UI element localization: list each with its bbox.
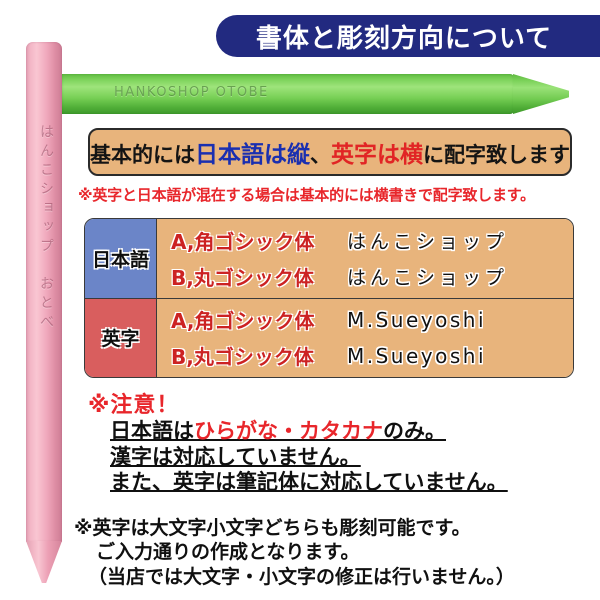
layout-rule-text: 基本的には日本語は縦、英字は横に配字致します xyxy=(90,135,570,169)
pink-pencil: はんこショップ おとべ xyxy=(26,42,62,582)
font-sample-text: はんこショップ xyxy=(347,227,508,254)
font-spec-table: 日本語 A,角ゴシック体 はんこショップ B,丸ゴシック体 はんこショップ 英字… xyxy=(84,218,574,378)
font-variant-row: B,丸ゴシック体 M.Sueyoshi xyxy=(171,338,573,374)
warning-seg: 漢字は対応していません。 xyxy=(110,445,361,469)
warning-line: 漢字は対応していません。 xyxy=(110,445,588,471)
row-label-english: 英字 xyxy=(85,299,157,378)
footer-line: ご入力通りの作成となります。 xyxy=(74,540,594,564)
font-variant-row: A,角ゴシック体 はんこショップ xyxy=(171,222,573,258)
font-sample-text: M.Sueyoshi xyxy=(347,344,486,368)
row-label-text: 日本語 xyxy=(92,245,149,272)
font-variant-name: A,角ゴシック体 xyxy=(171,226,347,255)
callout-segment-0: 基本的には xyxy=(90,143,195,167)
font-sample-text: はんこショップ xyxy=(347,263,508,290)
warning-seg: 日本語は xyxy=(110,419,194,443)
layout-rule-callout: 基本的には日本語は縦、英字は横に配字致します xyxy=(88,128,572,176)
callout-segment-2: 、 xyxy=(310,143,331,167)
green-pencil: HANKOSHOP OTOBE xyxy=(62,74,572,114)
warning-line-list: 日本語はひらがな・カタカナのみ。 漢字は対応していません。 また、英字は筆記体に… xyxy=(88,419,588,496)
row-label-japanese: 日本語 xyxy=(85,219,157,298)
table-row: 英字 A,角ゴシック体 M.Sueyoshi B,丸ゴシック体 M.Sueyos… xyxy=(85,298,573,378)
callout-segment-3: 英字は横 xyxy=(331,142,423,168)
callout-segment-4: に配字致します xyxy=(423,143,570,167)
warning-heading: ※注意！ xyxy=(88,394,588,417)
footer-note: ※英字は大文字小文字どちらも彫刻可能です。 ご入力通りの作成となります。 （当店… xyxy=(74,516,594,589)
promo-page: はんこショップ おとべ HANKOSHOP OTOBE 書体と彫刻方向について … xyxy=(0,0,600,600)
footer-line: ※英字は大文字小文字どちらも彫刻可能です。 xyxy=(74,516,594,540)
green-pencil-tip-icon xyxy=(513,74,569,114)
mixed-script-note: ※英字と日本語が混在する場合は基本的には横書きで配字致します。 xyxy=(78,184,588,205)
font-variant-name: A,角ゴシック体 xyxy=(171,305,347,334)
font-variant-row: B,丸ゴシック体 はんこショップ xyxy=(171,258,573,294)
header-banner: 書体と彫刻方向について xyxy=(216,15,600,57)
warning-line: 日本語はひらがな・カタカナのみ。 xyxy=(110,419,588,445)
font-sample-text: M.Sueyoshi xyxy=(347,308,486,332)
warning-line: また、英字は筆記体に対応していません。 xyxy=(110,470,588,496)
font-variant-name: B,丸ゴシック体 xyxy=(171,262,347,291)
footer-line: （当店では大文字・小文字の修正は行いません。） xyxy=(74,565,594,589)
row-label-text: 英字 xyxy=(101,324,139,351)
warning-seg: のみ。 xyxy=(383,419,446,443)
warning-seg: また、英字は筆記体に対応していません。 xyxy=(110,470,508,494)
row-body-japanese: A,角ゴシック体 はんこショップ B,丸ゴシック体 はんこショップ xyxy=(157,219,573,298)
table-row: 日本語 A,角ゴシック体 はんこショップ B,丸ゴシック体 はんこショップ xyxy=(85,219,573,298)
green-pencil-engraving: HANKOSHOP OTOBE xyxy=(114,85,269,100)
pink-pencil-tip-icon xyxy=(26,541,62,583)
warning-block: ※注意！ 日本語はひらがな・カタカナのみ。 漢字は対応していません。 また、英字… xyxy=(88,394,588,496)
font-variant-name: B,丸ゴシック体 xyxy=(171,341,347,370)
row-body-english: A,角ゴシック体 M.Sueyoshi B,丸ゴシック体 M.Sueyoshi xyxy=(157,299,573,378)
pink-pencil-engraving: はんこショップ おとべ xyxy=(32,124,56,464)
callout-segment-1: 日本語は縦 xyxy=(195,142,310,168)
font-variant-row: A,角ゴシック体 M.Sueyoshi xyxy=(171,302,573,338)
page-title: 書体と彫刻方向について xyxy=(256,18,552,55)
warning-seg-highlight: ひらがな・カタカナ xyxy=(194,419,383,443)
